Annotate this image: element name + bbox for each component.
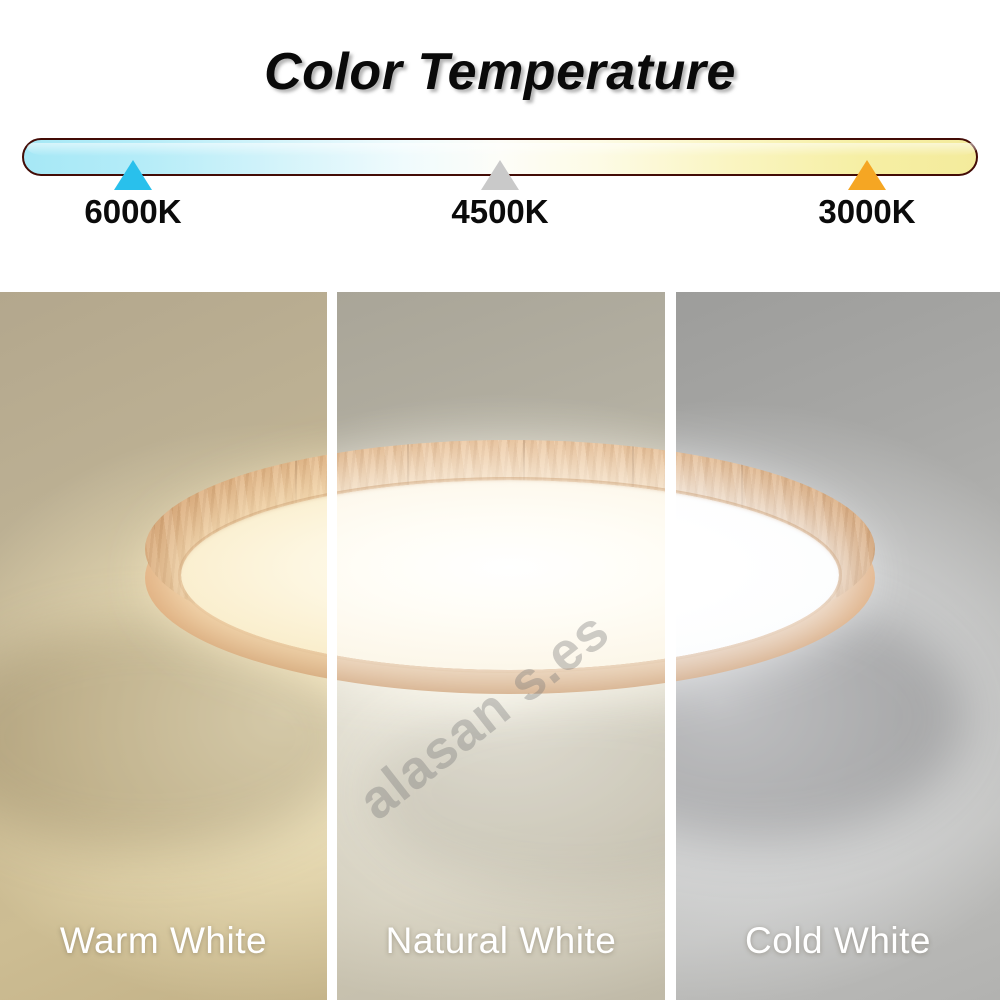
lamp-light-diffuser (337, 480, 665, 670)
ceiling-lamp-product-image (145, 440, 327, 715)
kelvin-label-3000k: 3000K (757, 193, 977, 231)
panel-caption-cold-white: Cold White (676, 920, 1000, 962)
comparison-panel-natural-white[interactable]: Natural White (337, 292, 665, 1000)
infographic-canvas: Color Temperature 6000K 4500K 3000K (0, 0, 1000, 1000)
comparison-photo-strip: Warm White (0, 292, 1000, 1000)
lamp-body (145, 440, 327, 715)
lamp-body (337, 440, 665, 715)
marker-4500k-triangle-up-icon[interactable] (481, 160, 519, 190)
page-title: Color Temperature (0, 42, 1000, 102)
marker-6000k-triangle-up-icon[interactable] (114, 160, 152, 190)
ceiling-lamp-product-image (337, 440, 665, 715)
comparison-panel-cold-white[interactable]: Cold White (676, 292, 1000, 1000)
ceiling-lamp-product-image (676, 440, 875, 715)
panel-caption-warm-white: Warm White (0, 920, 327, 962)
marker-3000k-triangle-up-icon[interactable] (848, 160, 886, 190)
kelvin-label-6000k: 6000K (23, 193, 243, 231)
bar-gloss-highlight (27, 143, 977, 156)
panel-caption-natural-white: Natural White (337, 920, 665, 962)
comparison-panel-warm-white[interactable]: Warm White (0, 292, 327, 1000)
kelvin-label-4500k: 4500K (390, 193, 610, 231)
lamp-body (676, 440, 875, 715)
